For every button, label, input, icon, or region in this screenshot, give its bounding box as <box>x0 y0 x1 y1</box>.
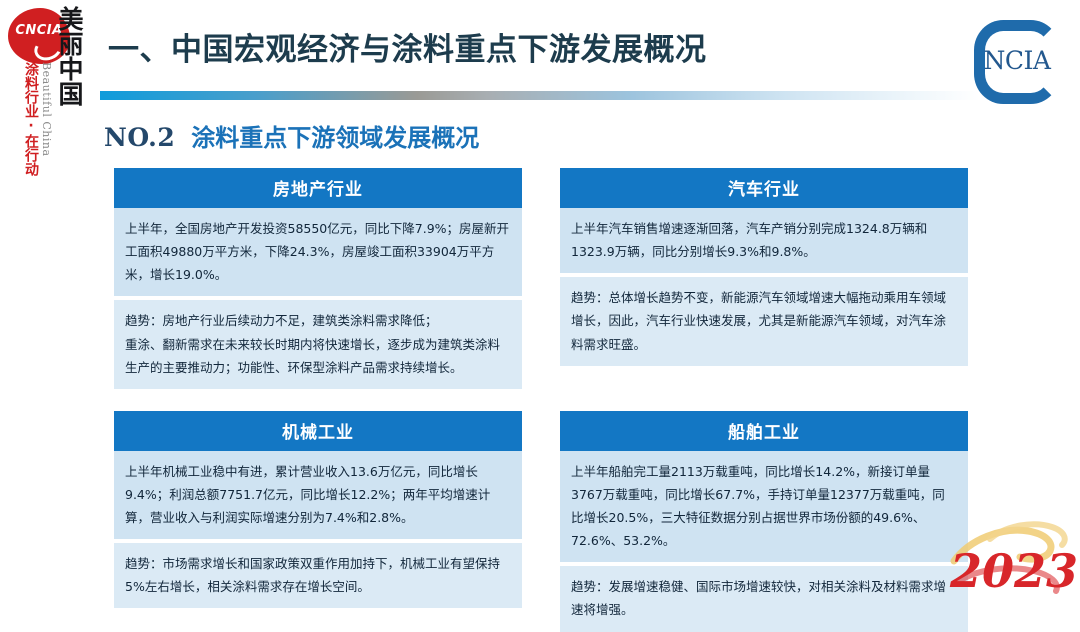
industry-card-real-estate: 房地产行业 上半年，全国房地产开发投资58550亿元，同比下降7.9%；房屋新开… <box>114 168 522 389</box>
trend-line: 重涂、翻新需求在未来较长时期内将快速增长，逐步成为建筑类涂料生产的主要推动力；功… <box>125 333 511 379</box>
card-body-text: 上半年汽车销售增速逐渐回落，汽车产销分别完成1324.8万辆和1323.9万辆，… <box>560 208 968 273</box>
brand-chinese-title: 美丽中国 <box>50 6 82 106</box>
card-trend-block: 趋势：市场需求增长和国家政策双重作用加持下，机械工业有望保持5%左右增长，相关涂… <box>114 543 522 608</box>
section-number: NO.2 <box>104 123 175 152</box>
trend-line: 趋势：总体增长趋势不变，新能源汽车领域增速大幅拖动乘用车领域增长，因此，汽车行业… <box>571 286 957 355</box>
industry-card-automotive: 汽车行业 上半年汽车销售增速逐渐回落，汽车产销分别完成1324.8万辆和1323… <box>560 168 968 389</box>
ncia-logo: NCIA <box>968 16 1066 108</box>
card-trend-block: 趋势：总体增长趋势不变，新能源汽车领域增速大幅拖动乘用车领域增长，因此，汽车行业… <box>560 277 968 365</box>
brand-chinese-slogan: 涂料行业·在行动 <box>18 62 38 176</box>
card-title: 房地产行业 <box>114 168 522 208</box>
card-body-text: 上半年，全国房地产开发投资58550亿元，同比下降7.9%；房屋新开工面积498… <box>114 208 522 296</box>
card-body-text: 上半年船舶完工量2113万载重吨，同比增长14.2%，新接订单量3767万载重吨… <box>560 451 968 563</box>
trend-line: 趋势：市场需求增长和国家政策双重作用加持下，机械工业有望保持5%左右增长，相关涂… <box>125 552 511 598</box>
ncia-wordmark: NCIA <box>968 46 1066 75</box>
card-title: 船舶工业 <box>560 411 968 451</box>
card-title: 机械工业 <box>114 411 522 451</box>
card-title: 汽车行业 <box>560 168 968 208</box>
year-2023-text: 2023 <box>949 544 1076 598</box>
industry-card-shipbuilding: 船舶工业 上半年船舶完工量2113万载重吨，同比增长14.2%，新接订单量376… <box>560 411 968 632</box>
card-trend-block: 趋势：房地产行业后续动力不足，建筑类涂料需求降低； 重涂、翻新需求在未来较长时期… <box>114 300 522 388</box>
trend-line: 趋势：发展增速稳健、国际市场增速较快，对相关涂料及材料需求增速将增强。 <box>571 575 957 621</box>
brand-english-title: Beautiful China <box>40 62 53 157</box>
industry-card-machinery: 机械工业 上半年机械工业稳中有进，累计营业收入13.6万亿元，同比增长9.4%；… <box>114 411 522 632</box>
industry-card-grid: 房地产行业 上半年，全国房地产开发投资58550亿元，同比下降7.9%；房屋新开… <box>114 168 968 632</box>
section-title-text: 涂料重点下游领域发展概况 <box>191 124 479 152</box>
page-title: 一、中国宏观经济与涂料重点下游发展概况 <box>108 24 707 69</box>
card-trend-block: 趋势：发展增速稳健、国际市场增速较快，对相关涂料及材料需求增速将增强。 <box>560 566 968 631</box>
card-body-text: 上半年机械工业稳中有进，累计营业收入13.6万亿元，同比增长9.4%；利润总额7… <box>114 451 522 539</box>
header-gradient-divider <box>100 91 980 100</box>
brand-logo: CNCIA 美丽中国 Beautiful China 涂料行业·在行动 <box>6 4 84 176</box>
trend-line: 趋势：房地产行业后续动力不足，建筑类涂料需求降低； <box>125 309 511 332</box>
section-title: NO.2涂料重点下游领域发展概况 <box>104 118 479 153</box>
